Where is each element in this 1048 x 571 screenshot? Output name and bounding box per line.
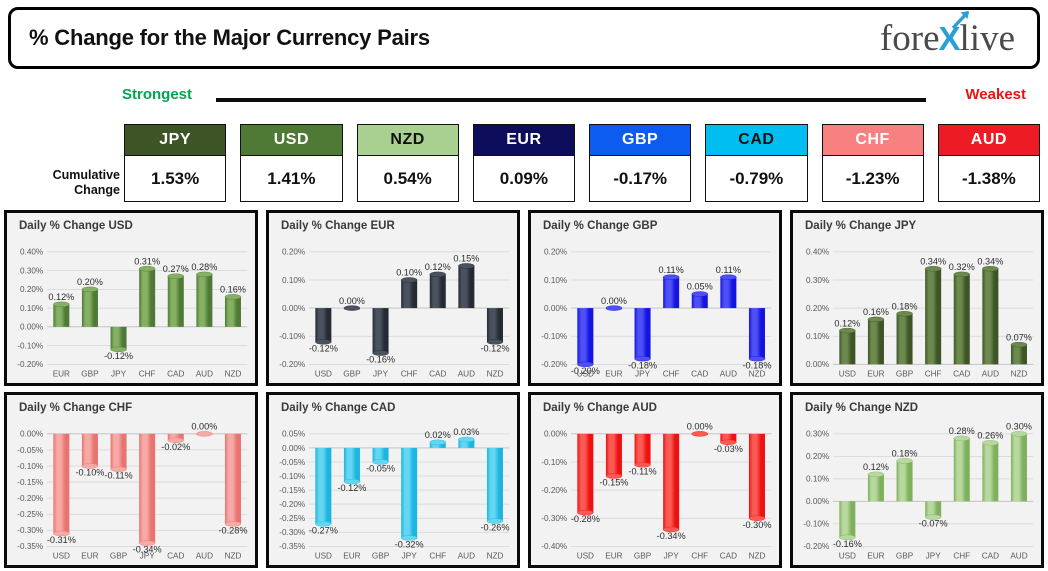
logo-arrow-icon <box>950 8 972 30</box>
bar-eur <box>606 434 622 479</box>
bar-cad <box>982 440 998 501</box>
bar-cad <box>692 292 708 309</box>
svg-text:0.20%: 0.20% <box>806 452 829 461</box>
chart-panel-jpy: Daily % Change JPY0.00%0.10%0.20%0.30%0.… <box>790 210 1044 386</box>
chart-panel-gbp: Daily % Change GBP-0.20%-0.10%0.00%0.10%… <box>528 210 782 386</box>
bar-label: -0.18% <box>742 360 771 370</box>
bar-label: 0.00% <box>339 296 365 306</box>
x-axis-tick: EUR <box>867 370 884 379</box>
bar-cad <box>430 272 446 308</box>
currency-cell-aud: AUD-1.38% <box>938 124 1040 204</box>
bar-jpy <box>139 434 155 546</box>
x-axis-tick: USD <box>577 370 594 379</box>
bar-label: -0.11% <box>628 466 656 476</box>
bar-label: 0.34% <box>920 256 946 266</box>
bar-label: -0.30% <box>742 520 771 530</box>
bar-usd <box>577 434 593 515</box>
svg-text:0.10%: 0.10% <box>806 332 829 341</box>
bar-usd <box>315 308 331 344</box>
svg-text:0.40%: 0.40% <box>20 248 43 257</box>
currency-cell-eur: EUR0.09% <box>473 124 575 204</box>
svg-text:0.00%: 0.00% <box>20 323 43 332</box>
bar-label: 0.18% <box>892 301 918 311</box>
currency-code-gbp: GBP <box>589 124 691 156</box>
x-axis-tick: USD <box>53 552 70 561</box>
svg-text:0.00%: 0.00% <box>282 444 305 453</box>
x-axis-tick: NZD <box>487 552 504 561</box>
svg-text:0.10%: 0.10% <box>806 475 829 484</box>
bar-jpy <box>373 308 389 355</box>
bar-label: -0.12% <box>337 483 366 493</box>
svg-text:0.10%: 0.10% <box>282 276 305 285</box>
svg-text:0.10%: 0.10% <box>544 276 567 285</box>
svg-text:-0.10%: -0.10% <box>541 332 567 341</box>
strength-scale-line <box>216 98 926 102</box>
svg-text:0.30%: 0.30% <box>806 276 829 285</box>
page-title: % Change for the Major Currency Pairs <box>29 25 430 51</box>
x-axis-tick: GBP <box>81 370 99 379</box>
bar-chf <box>430 440 446 448</box>
currency-value-gbp: -0.17% <box>589 156 691 202</box>
svg-text:0.40%: 0.40% <box>806 248 829 257</box>
bar-aud <box>196 431 212 436</box>
chart-plot-area: -0.35%-0.30%-0.25%-0.20%-0.15%-0.10%-0.0… <box>7 419 253 565</box>
currency-value-eur: 0.09% <box>473 156 575 202</box>
svg-text:0.20%: 0.20% <box>282 248 305 257</box>
x-axis-tick: CAD <box>953 370 970 379</box>
x-axis-tick: CHF <box>953 552 970 561</box>
svg-text:-0.15%: -0.15% <box>17 478 43 487</box>
chart-title: Daily % Change AUD <box>543 402 657 414</box>
x-axis-tick: GBP <box>896 552 914 561</box>
bar-label: -0.28% <box>571 514 600 524</box>
bar-jpy <box>401 448 417 540</box>
bar-label: -0.12% <box>309 343 338 353</box>
chart-title: Daily % Change NZD <box>805 402 918 414</box>
svg-text:-0.10%: -0.10% <box>17 462 43 471</box>
x-axis-tick: CAD <box>167 370 184 379</box>
x-axis-tick: AUD <box>1010 552 1027 561</box>
bar-label: -0.02% <box>161 442 190 452</box>
bar-label: -0.10% <box>75 468 104 478</box>
weakest-label: Weakest <box>965 86 1026 103</box>
bar-label: 0.03% <box>453 427 479 437</box>
bar-label: 0.12% <box>863 462 889 472</box>
chart-panel-eur: Daily % Change EUR-0.20%-0.10%0.00%0.10%… <box>266 210 520 386</box>
currency-value-usd: 1.41% <box>240 156 342 202</box>
chart-plot-area: -0.20%-0.10%0.00%0.10%0.20%-0.20%USD0.00… <box>531 237 777 383</box>
bar-label: -0.31% <box>47 535 76 545</box>
x-axis-tick: GBP <box>634 552 652 561</box>
bar-eur <box>82 434 98 469</box>
x-axis-tick: CHF <box>925 370 942 379</box>
bar-label: 0.27% <box>163 264 189 274</box>
currency-value-nzd: 0.54% <box>357 156 459 202</box>
bar-label: 0.12% <box>425 262 451 272</box>
x-axis-tick: USD <box>315 370 332 379</box>
bar-label: 0.12% <box>834 318 860 328</box>
chart-title: Daily % Change CAD <box>281 402 395 414</box>
svg-text:0.00%: 0.00% <box>544 430 567 439</box>
x-axis-tick: CHF <box>429 552 446 561</box>
bar-gbp <box>897 458 913 501</box>
bar-label: 0.00% <box>191 422 217 432</box>
x-axis-tick: JPY <box>664 552 680 561</box>
currency-cell-gbp: GBP-0.17% <box>589 124 691 204</box>
bar-label: -0.03% <box>714 444 743 454</box>
currency-code-usd: USD <box>240 124 342 156</box>
svg-text:-0.25%: -0.25% <box>279 514 305 523</box>
x-axis-tick: CAD <box>429 370 446 379</box>
cumulative-change-row: JPY1.53%USD1.41%NZD0.54%EUR0.09%GBP-0.17… <box>124 124 1040 204</box>
logo-text-fore: fore <box>880 20 940 57</box>
bar-gbp <box>82 287 98 327</box>
bar-chf <box>692 431 708 436</box>
svg-text:-0.10%: -0.10% <box>17 341 43 350</box>
svg-text:-0.20%: -0.20% <box>279 500 305 509</box>
x-axis-tick: EUR <box>605 552 622 561</box>
chart-panel-aud: Daily % Change AUD-0.40%-0.30%-0.20%-0.1… <box>528 392 782 568</box>
svg-text:-0.30%: -0.30% <box>17 526 43 535</box>
x-axis-tick: JPY <box>926 552 942 561</box>
strongest-label: Strongest <box>122 86 192 103</box>
x-axis-tick: USD <box>315 552 332 561</box>
x-axis-tick: CHF <box>691 552 708 561</box>
x-axis-tick: AUD <box>196 552 213 561</box>
bar-label: 0.28% <box>191 262 217 272</box>
bar-nzd <box>225 294 241 326</box>
svg-text:0.20%: 0.20% <box>544 248 567 257</box>
svg-text:0.20%: 0.20% <box>20 285 43 294</box>
bar-label: 0.16% <box>220 285 246 295</box>
bar-usd <box>839 501 855 539</box>
chart-panel-nzd: Daily % Change NZD-0.20%-0.10%0.00%0.10%… <box>790 392 1044 568</box>
x-axis-tick: EUR <box>605 370 622 379</box>
x-axis-tick: JPY <box>111 370 127 379</box>
bar-label: -0.16% <box>833 539 862 549</box>
forexlive-logo: fore X live <box>880 20 1019 57</box>
bar-cad <box>954 272 970 364</box>
currency-cell-usd: USD1.41% <box>240 124 342 204</box>
svg-text:-0.10%: -0.10% <box>279 332 305 341</box>
x-axis-tick: CAD <box>720 552 737 561</box>
bar-label: 0.00% <box>687 422 713 432</box>
x-axis-tick: USD <box>839 552 856 561</box>
bar-label: 0.11% <box>659 265 684 275</box>
svg-text:0.00%: 0.00% <box>282 304 305 313</box>
currency-value-chf: -1.23% <box>822 156 924 202</box>
bar-eur <box>868 317 884 364</box>
bar-label: -0.11% <box>104 471 132 481</box>
cumulative-change-label: Cumulative Change <box>12 168 120 198</box>
x-axis-tick: GBP <box>896 370 914 379</box>
bar-chf <box>663 275 679 308</box>
bar-cad <box>168 274 184 327</box>
bar-label: 0.00% <box>601 296 627 306</box>
x-axis-tick: USD <box>577 552 594 561</box>
bar-aud <box>458 437 474 448</box>
bar-label: 0.02% <box>425 430 451 440</box>
bar-gbp <box>373 448 389 465</box>
bar-label: -0.27% <box>309 525 338 535</box>
bar-nzd <box>225 434 241 526</box>
currency-cell-cad: CAD-0.79% <box>705 124 807 204</box>
x-axis-tick: JPY <box>373 370 389 379</box>
bar-gbp <box>344 306 360 311</box>
svg-text:-0.10%: -0.10% <box>541 458 567 467</box>
x-axis-tick: EUR <box>343 552 360 561</box>
chart-grid: Daily % Change USD-0.20%-0.10%0.00%0.10%… <box>4 210 1044 568</box>
bar-label: 0.11% <box>716 265 741 275</box>
x-axis-tick: GBP <box>372 552 390 561</box>
bar-label: 0.34% <box>977 256 1003 266</box>
svg-text:-0.20%: -0.20% <box>803 542 829 551</box>
currency-cell-jpy: JPY1.53% <box>124 124 226 204</box>
bar-chf <box>954 436 970 501</box>
svg-text:0.00%: 0.00% <box>806 360 829 369</box>
svg-text:-0.30%: -0.30% <box>279 528 305 537</box>
bar-aud <box>196 272 212 327</box>
chart-title: Daily % Change JPY <box>805 220 916 232</box>
chart-title: Daily % Change GBP <box>543 220 657 232</box>
bar-label: 0.05% <box>687 282 713 292</box>
x-axis-tick: AUD <box>982 370 999 379</box>
svg-text:-0.20%: -0.20% <box>541 360 567 369</box>
svg-text:-0.20%: -0.20% <box>541 486 567 495</box>
bar-label: 0.18% <box>892 449 918 459</box>
x-axis-tick: EUR <box>867 552 884 561</box>
bar-label: 0.07% <box>1006 332 1032 342</box>
svg-text:0.00%: 0.00% <box>20 430 43 439</box>
bar-chf <box>401 277 417 308</box>
x-axis-tick: CHF <box>663 370 680 379</box>
x-axis-tick: GBP <box>343 370 361 379</box>
bar-eur <box>868 472 884 501</box>
x-axis-tick: JPY <box>635 370 651 379</box>
strength-scale: Strongest Weakest <box>0 86 1048 112</box>
bar-aud <box>1011 431 1027 501</box>
currency-code-nzd: NZD <box>357 124 459 156</box>
chart-plot-area: -0.35%-0.30%-0.25%-0.20%-0.15%-0.10%-0.0… <box>269 419 515 565</box>
bar-aud <box>720 275 736 308</box>
x-axis-tick: NZD <box>749 370 766 379</box>
chart-plot-area: -0.40%-0.30%-0.20%-0.10%0.00%-0.28%USD-0… <box>531 419 777 565</box>
currency-value-aud: -1.38% <box>938 156 1040 202</box>
bar-label: -0.07% <box>919 519 948 529</box>
svg-text:0.30%: 0.30% <box>806 430 829 439</box>
bar-nzd <box>749 308 765 361</box>
x-axis-tick: USD <box>839 370 856 379</box>
svg-text:-0.20%: -0.20% <box>17 360 43 369</box>
chart-title: Daily % Change USD <box>19 220 133 232</box>
chart-plot-area: -0.20%-0.10%0.00%0.10%0.20%0.30%-0.16%US… <box>793 419 1039 565</box>
logo-x-letter: X <box>939 22 961 55</box>
bar-label: 0.15% <box>453 254 479 264</box>
svg-text:-0.05%: -0.05% <box>17 446 43 455</box>
bar-usd <box>839 328 855 364</box>
currency-code-cad: CAD <box>705 124 807 156</box>
cumulative-change-label-line1: Cumulative <box>12 168 120 183</box>
bar-label: -0.15% <box>599 478 628 488</box>
chart-panel-cad: Daily % Change CAD-0.35%-0.30%-0.25%-0.2… <box>266 392 520 568</box>
bar-label: 0.16% <box>863 307 889 317</box>
bar-nzd <box>487 308 503 344</box>
bar-aud <box>982 266 998 364</box>
x-axis-tick: NZD <box>749 552 766 561</box>
svg-text:0.00%: 0.00% <box>544 304 567 313</box>
currency-code-eur: EUR <box>473 124 575 156</box>
bar-usd <box>315 448 331 526</box>
bar-jpy <box>925 501 941 519</box>
x-axis-tick: NZD <box>487 370 504 379</box>
x-axis-tick: NZD <box>225 552 242 561</box>
bar-label: -0.18% <box>628 360 657 370</box>
bar-label: -0.28% <box>218 525 247 535</box>
currency-code-jpy: JPY <box>124 124 226 156</box>
x-axis-tick: CHF <box>401 370 418 379</box>
cumulative-change-label-line2: Change <box>12 183 120 198</box>
bar-eur <box>344 448 360 484</box>
svg-text:-0.10%: -0.10% <box>279 472 305 481</box>
bar-gbp <box>111 434 127 472</box>
x-axis-tick: NZD <box>1011 370 1028 379</box>
x-axis-tick: AUD <box>458 370 475 379</box>
bar-label: 0.32% <box>949 262 975 272</box>
svg-text:0.00%: 0.00% <box>806 497 829 506</box>
bar-nzd <box>1011 342 1027 364</box>
svg-text:-0.35%: -0.35% <box>17 542 43 551</box>
svg-text:0.30%: 0.30% <box>20 266 43 275</box>
chart-title: Daily % Change EUR <box>281 220 395 232</box>
header-banner: % Change for the Major Currency Pairs fo… <box>8 7 1040 69</box>
x-axis-tick: GBP <box>110 552 128 561</box>
bar-chf <box>925 266 941 364</box>
bar-label: -0.34% <box>657 531 686 541</box>
x-axis-tick: CHF <box>139 370 156 379</box>
x-axis-tick: AUD <box>196 370 213 379</box>
bar-jpy <box>111 327 127 352</box>
bar-gbp <box>897 311 913 364</box>
x-axis-tick: AUD <box>458 552 475 561</box>
bar-label: -0.05% <box>366 464 395 474</box>
svg-text:0.05%: 0.05% <box>282 430 305 439</box>
bar-label: 0.28% <box>949 426 975 436</box>
svg-text:-0.35%: -0.35% <box>279 542 305 551</box>
bar-label: 0.31% <box>134 256 160 266</box>
x-axis-tick: EUR <box>81 552 98 561</box>
currency-cell-chf: CHF-1.23% <box>822 124 924 204</box>
bar-nzd <box>487 448 503 524</box>
bar-label: -0.32% <box>395 539 424 549</box>
svg-text:0.20%: 0.20% <box>806 304 829 313</box>
bar-eur <box>606 306 622 311</box>
bar-label: 0.10% <box>396 268 422 278</box>
bar-chf <box>139 266 155 327</box>
svg-text:-0.20%: -0.20% <box>279 360 305 369</box>
bar-label: -0.16% <box>366 355 395 365</box>
currency-value-cad: -0.79% <box>705 156 807 202</box>
chart-plot-area: 0.00%0.10%0.20%0.30%0.40%0.12%USD0.16%EU… <box>793 237 1039 383</box>
bar-usd <box>53 434 69 536</box>
svg-text:-0.40%: -0.40% <box>541 542 567 551</box>
bar-label: -0.12% <box>104 351 133 361</box>
svg-text:0.10%: 0.10% <box>20 304 43 313</box>
svg-text:-0.25%: -0.25% <box>17 510 43 519</box>
bar-nzd <box>749 434 765 521</box>
chart-title: Daily % Change CHF <box>19 402 132 414</box>
bar-label: 0.20% <box>77 277 103 287</box>
svg-text:-0.05%: -0.05% <box>279 458 305 467</box>
svg-text:-0.20%: -0.20% <box>17 494 43 503</box>
bar-label: 0.12% <box>48 292 74 302</box>
currency-code-aud: AUD <box>938 124 1040 156</box>
bar-usd <box>577 308 593 367</box>
bar-jpy <box>663 434 679 532</box>
svg-text:-0.30%: -0.30% <box>541 514 567 523</box>
x-axis-tick: EUR <box>53 370 70 379</box>
x-axis-tick: CAD <box>982 552 999 561</box>
svg-text:-0.10%: -0.10% <box>803 520 829 529</box>
bar-jpy <box>635 308 651 361</box>
bar-label: 0.30% <box>1006 422 1032 432</box>
x-axis-tick: CAD <box>167 552 184 561</box>
x-axis-tick: AUD <box>720 370 737 379</box>
chart-panel-chf: Daily % Change CHF-0.35%-0.30%-0.25%-0.2… <box>4 392 258 568</box>
bar-eur <box>53 302 69 327</box>
svg-text:-0.15%: -0.15% <box>279 486 305 495</box>
x-axis-tick: CAD <box>691 370 708 379</box>
bar-gbp <box>635 434 651 467</box>
currency-value-jpy: 1.53% <box>124 156 226 202</box>
chart-panel-usd: Daily % Change USD-0.20%-0.10%0.00%0.10%… <box>4 210 258 386</box>
chart-plot-area: -0.20%-0.10%0.00%0.10%0.20%0.30%0.40%0.1… <box>7 237 253 383</box>
currency-code-chf: CHF <box>822 124 924 156</box>
bar-label: 0.26% <box>977 431 1003 441</box>
bar-label: -0.26% <box>480 523 509 533</box>
x-axis-tick: NZD <box>225 370 242 379</box>
x-axis-tick: JPY <box>140 552 156 561</box>
bar-aud <box>458 263 474 308</box>
x-axis-tick: JPY <box>402 552 418 561</box>
currency-cell-nzd: NZD0.54% <box>357 124 459 204</box>
chart-plot-area: -0.20%-0.10%0.00%0.10%0.20%-0.12%USD0.00… <box>269 237 515 383</box>
bar-label: -0.12% <box>480 343 509 353</box>
